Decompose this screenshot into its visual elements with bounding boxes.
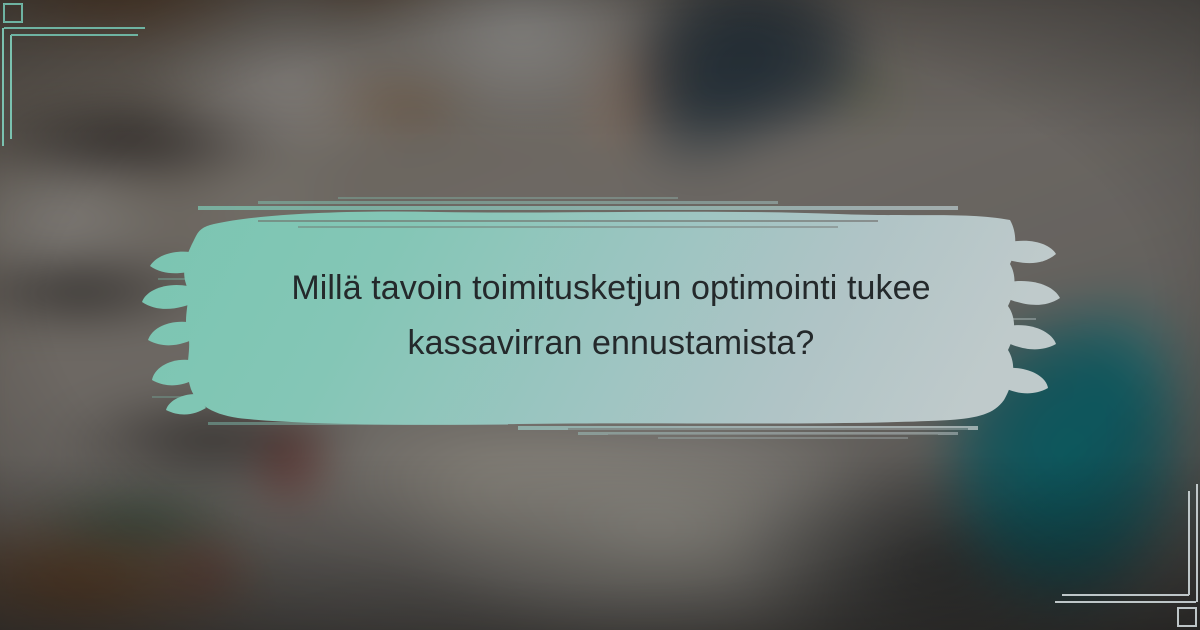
share-card-canvas: Millä tavoin toimitusketjun optimointi t… [0, 0, 1200, 630]
headline-text: Millä tavoin toimitusketjun optimointi t… [216, 190, 1006, 442]
corner-square-icon [4, 4, 22, 22]
headline-banner: Millä tavoin toimitusketjun optimointi t… [138, 190, 1068, 442]
corner-square-icon [1178, 608, 1196, 626]
corner-ornament-top-left [0, 0, 160, 160]
corner-ornament-bottom-right [1040, 470, 1200, 630]
